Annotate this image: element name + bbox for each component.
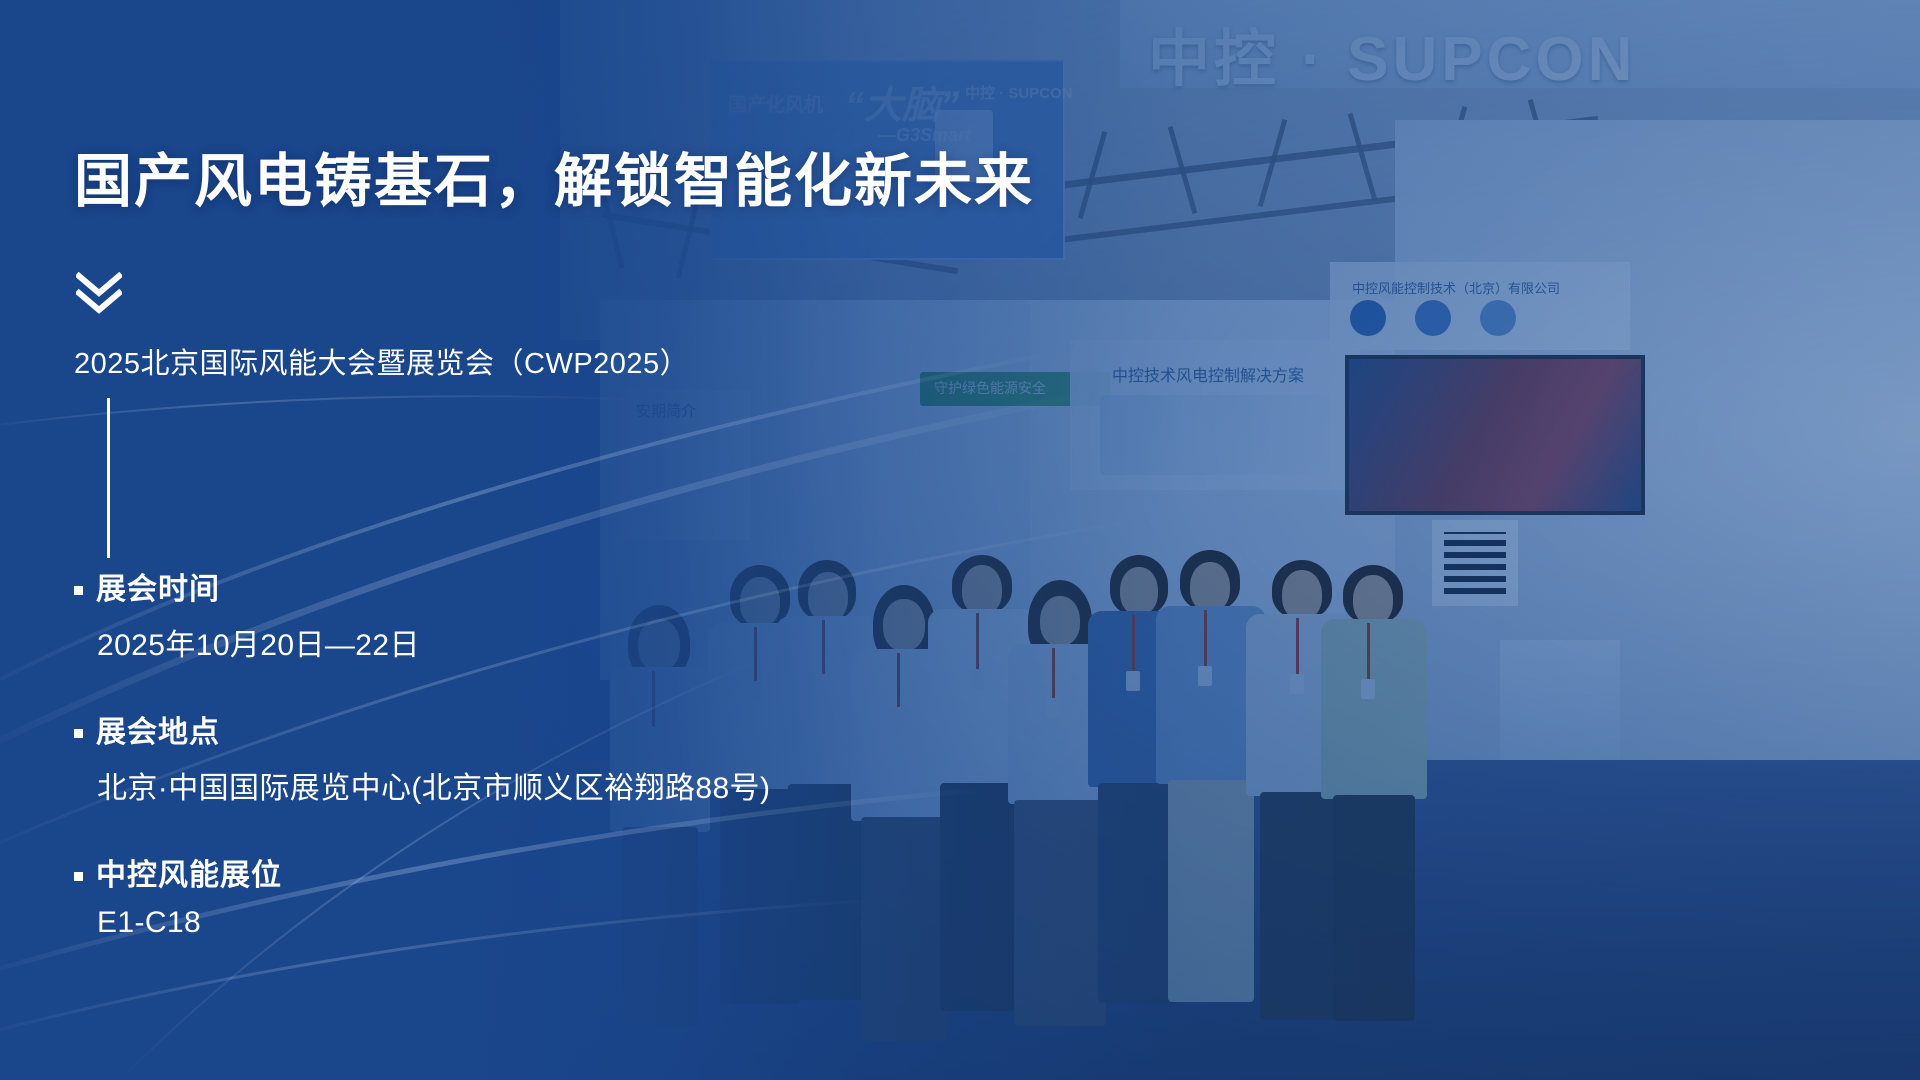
event-info-list: 展会时间 2025年10月20日—22日 展会地点 北京·中国国际展览中心(北京… xyxy=(74,573,894,940)
info-group-booth: 中控风能展位 E1-C18 xyxy=(74,859,894,940)
info-value-date: 2025年10月20日—22日 xyxy=(97,620,894,664)
info-group-venue: 展会地点 北京·中国国际展览中心(北京市顺义区裕翔路88号) xyxy=(74,716,894,807)
square-bullet-icon xyxy=(74,872,83,881)
info-value-venue: 北京·中国国际展览中心(北京市顺义区裕翔路88号) xyxy=(97,763,894,807)
info-group-date: 展会时间 2025年10月20日—22日 xyxy=(74,573,894,664)
square-bullet-icon xyxy=(74,729,83,738)
info-label-date: 展会时间 xyxy=(74,573,894,606)
event-subtitle: 2025北京国际风能大会暨展览会（CWP2025） xyxy=(74,340,689,382)
poster-content: 国产风电铸基石，解锁智能化新未来 2025北京国际风能大会暨展览会（CWP202… xyxy=(0,0,1000,1080)
promotional-poster: 中控 · SUPCON 国产化风机 “大脑” —G3Smart 中控 · SUP… xyxy=(0,0,1920,1080)
page-title: 国产风电铸基石，解锁智能化新未来 xyxy=(74,148,1034,216)
info-label-date-text: 展会时间 xyxy=(96,573,220,606)
info-label-venue: 展会地点 xyxy=(74,716,894,749)
double-chevron-down-icon xyxy=(76,272,122,314)
info-label-booth: 中控风能展位 xyxy=(74,859,894,892)
info-value-booth: E1-C18 xyxy=(97,906,894,940)
info-label-booth-text: 中控风能展位 xyxy=(96,859,282,892)
info-label-venue-text: 展会地点 xyxy=(96,716,220,749)
square-bullet-icon xyxy=(74,586,83,595)
vertical-divider xyxy=(107,398,110,558)
